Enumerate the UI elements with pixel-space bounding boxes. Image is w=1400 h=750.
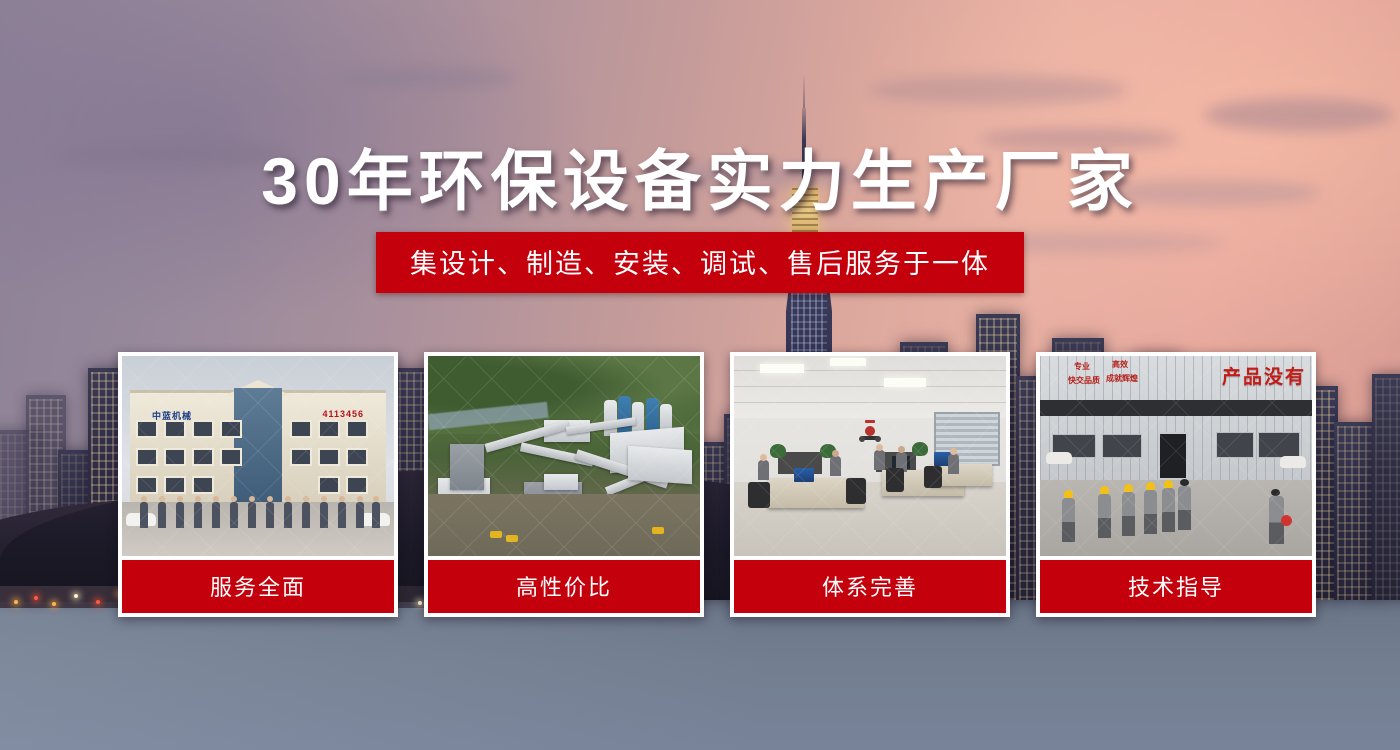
subtitle-banner-wrap: 集设计、制造、安装、调试、售后服务于一体 [0, 232, 1400, 293]
excavator-icon [490, 531, 502, 538]
wall-logo-icon [853, 418, 887, 444]
red-helmet-icon [1281, 515, 1292, 526]
excavator-icon [506, 535, 518, 542]
card-photo-office-building: 中蓝机械 4113456 [122, 356, 394, 556]
cloud-icon [1204, 98, 1394, 132]
excavator-icon [652, 527, 664, 534]
factory-slogan: 产品没有 [1222, 362, 1306, 389]
card-caption: 高性价比 [428, 560, 700, 613]
factory-slogan-small: 成就辉煌 [1106, 374, 1138, 383]
staff-group [136, 494, 380, 528]
card-photo-worker-training: 产品没有 专业 快交品质 高效 成就辉煌 [1040, 356, 1312, 556]
cloud-icon [868, 75, 1128, 105]
factory-door [1158, 432, 1188, 480]
subtitle-banner: 集设计、制造、安装、调试、售后服务于一体 [376, 232, 1024, 293]
card-photo-office-interior [734, 356, 1006, 556]
card-photo-plant-aerial [428, 356, 700, 556]
card-caption: 技术指导 [1040, 560, 1312, 613]
feature-card[interactable]: 产品没有 专业 快交品质 高效 成就辉煌 [1036, 352, 1316, 617]
factory-slogan-small: 快交品质 [1068, 376, 1100, 385]
card-caption: 服务全面 [122, 560, 394, 613]
factory-slogan-small: 专业 [1074, 362, 1090, 371]
banner-stage: 30年环保设备实力生产厂家 集设计、制造、安装、调试、售后服务于一体 中蓝机械 … [0, 0, 1400, 750]
feature-card[interactable]: 中蓝机械 4113456 [118, 352, 398, 617]
feature-card[interactable]: 高性价比 [424, 352, 704, 617]
page-title: 30年环保设备实力生产厂家 [0, 128, 1400, 224]
card-caption: 体系完善 [734, 560, 1006, 613]
feature-card-list: 中蓝机械 4113456 [118, 352, 1316, 617]
tower-antenna-tip [803, 74, 805, 108]
feature-card[interactable]: 体系完善 [730, 352, 1010, 617]
cloud-icon [336, 68, 516, 88]
factory-slogan-small: 高效 [1112, 360, 1128, 369]
